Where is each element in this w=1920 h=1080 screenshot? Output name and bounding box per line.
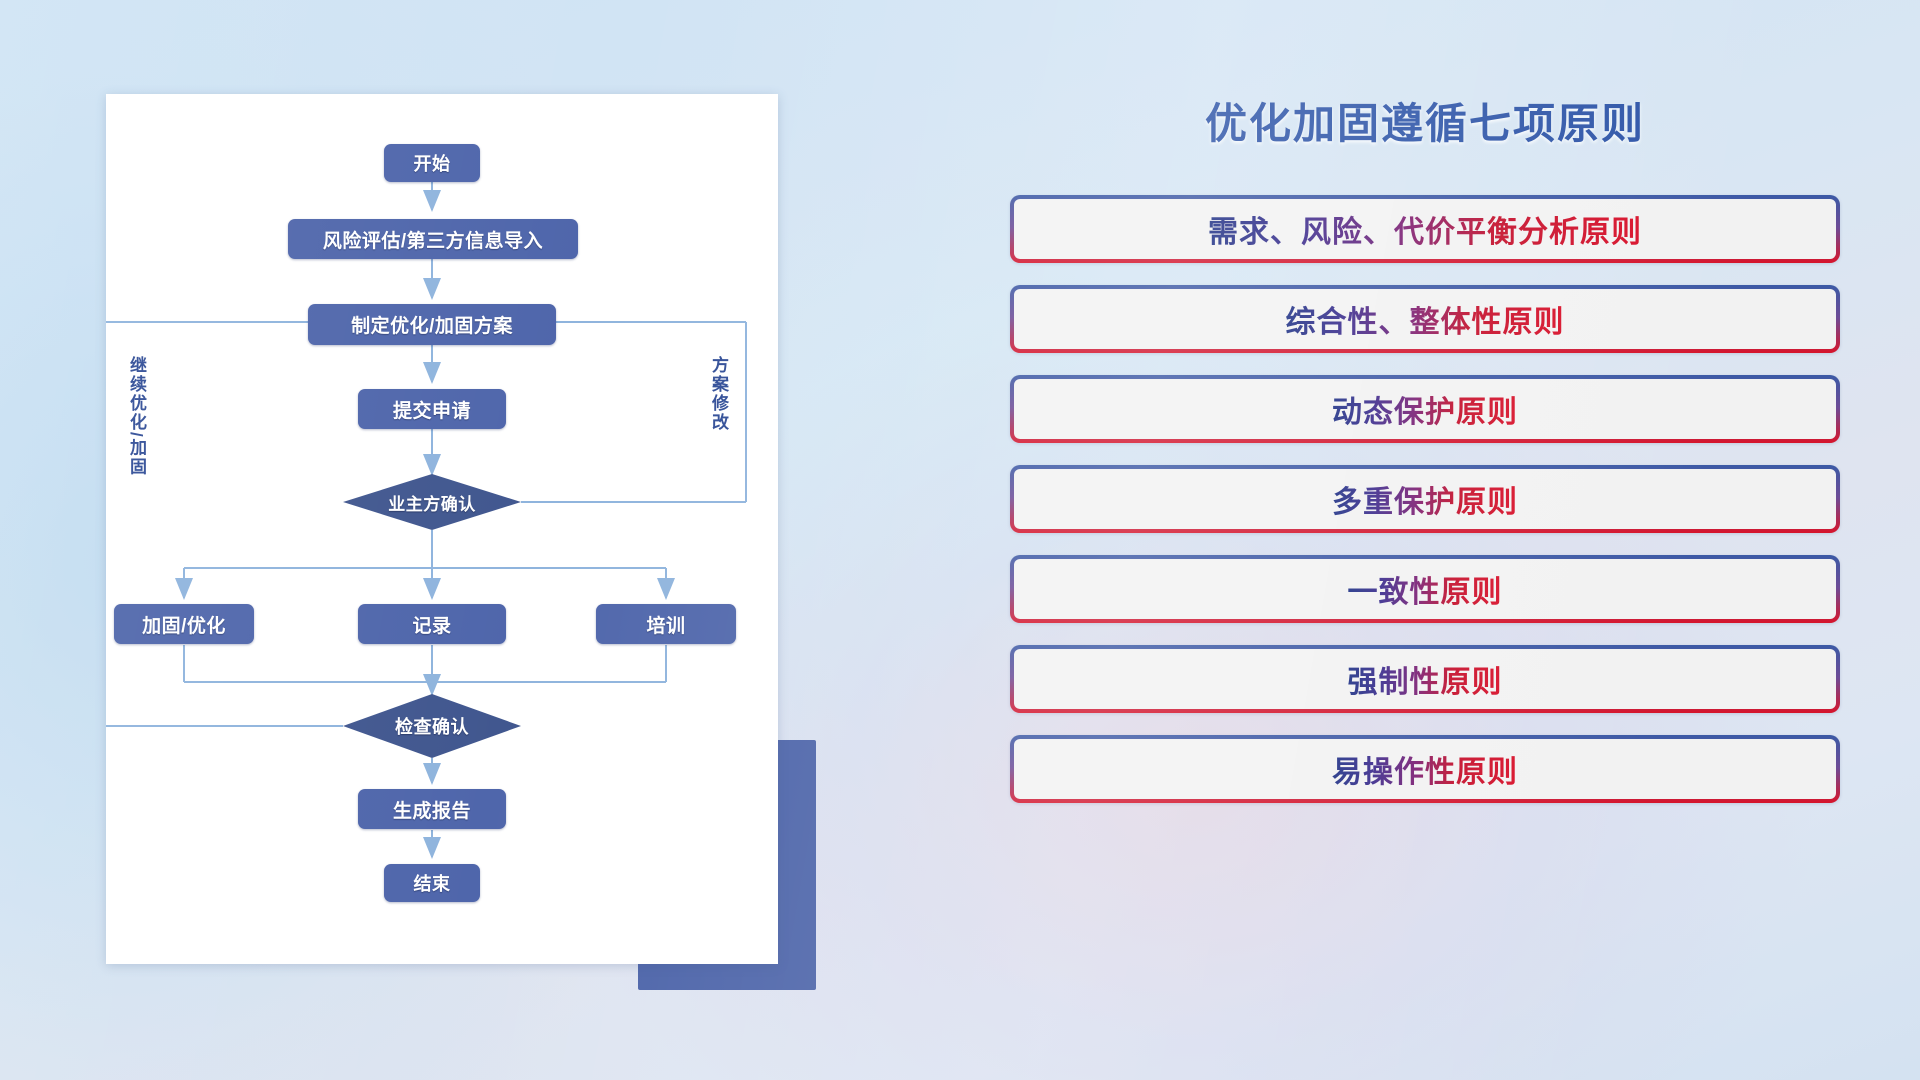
flow-node-check-confirm[interactable]: 检查确认	[343, 694, 521, 758]
principle-label: 综合性、整体性原则	[1286, 297, 1565, 341]
flow-node-risk-assessment[interactable]: 风险评估/第三方信息导入	[288, 219, 578, 259]
principles-list: 需求、风险、代价平衡分析原则 综合性、整体性原则 动态保护原则 多重保护原则 一…	[1010, 195, 1840, 803]
principle-label: 需求、风险、代价平衡分析原则	[1208, 207, 1642, 251]
flow-node-label: 培训	[646, 611, 685, 638]
flow-node-label: 提交申请	[393, 396, 471, 423]
flow-node-label: 制定优化/加固方案	[351, 311, 513, 338]
flow-node-submit-application[interactable]: 提交申请	[358, 389, 506, 429]
flow-node-label: 检查确认	[343, 694, 521, 758]
flow-node-record[interactable]: 记录	[358, 604, 506, 644]
flow-node-owner-confirm[interactable]: 业主方确认	[343, 474, 521, 530]
principle-card[interactable]: 强制性原则	[1010, 645, 1840, 713]
principles-panel: 优化加固遵循七项原则 需求、风险、代价平衡分析原则 综合性、整体性原则 动态保护…	[1010, 90, 1840, 803]
flowchart-card: 开始 风险评估/第三方信息导入 制定优化/加固方案 提交申请 业主方确认 加固/…	[106, 94, 778, 964]
flow-node-label: 风险评估/第三方信息导入	[323, 226, 543, 253]
flow-node-generate-report[interactable]: 生成报告	[358, 789, 506, 829]
principle-card[interactable]: 综合性、整体性原则	[1010, 285, 1840, 353]
principle-card[interactable]: 需求、风险、代价平衡分析原则	[1010, 195, 1840, 263]
principle-card[interactable]: 易操作性原则	[1010, 735, 1840, 803]
principle-label: 强制性原则	[1348, 657, 1503, 701]
flow-node-harden-optimize[interactable]: 加固/优化	[114, 604, 254, 644]
principle-card[interactable]: 多重保护原则	[1010, 465, 1840, 533]
flow-node-label: 业主方确认	[343, 474, 521, 530]
flow-node-label: 结束	[414, 870, 451, 896]
flow-node-label: 记录	[412, 611, 451, 638]
principle-label: 动态保护原则	[1332, 387, 1518, 431]
principle-label: 一致性原则	[1348, 567, 1503, 611]
flow-node-start[interactable]: 开始	[384, 144, 480, 182]
principle-card[interactable]: 一致性原则	[1010, 555, 1840, 623]
flow-node-label: 加固/优化	[142, 611, 226, 638]
principle-label: 多重保护原则	[1332, 477, 1518, 521]
principle-card[interactable]: 动态保护原则	[1010, 375, 1840, 443]
flow-edge-label-plan-revision: 方案修改	[706, 356, 731, 432]
flow-edge-label-continue-optimize: 继续优化/加固	[124, 356, 149, 477]
flow-node-label: 生成报告	[393, 796, 471, 823]
principle-label: 易操作性原则	[1332, 747, 1518, 791]
flow-node-end[interactable]: 结束	[384, 864, 480, 902]
slide-canvas: 开始 风险评估/第三方信息导入 制定优化/加固方案 提交申请 业主方确认 加固/…	[0, 0, 1920, 1080]
flow-node-plan[interactable]: 制定优化/加固方案	[308, 304, 556, 345]
flow-node-label: 开始	[414, 150, 451, 176]
flow-node-training[interactable]: 培训	[596, 604, 736, 644]
principles-title: 优化加固遵循七项原则	[1010, 90, 1840, 151]
flowchart-canvas: 开始 风险评估/第三方信息导入 制定优化/加固方案 提交申请 业主方确认 加固/…	[106, 94, 778, 964]
